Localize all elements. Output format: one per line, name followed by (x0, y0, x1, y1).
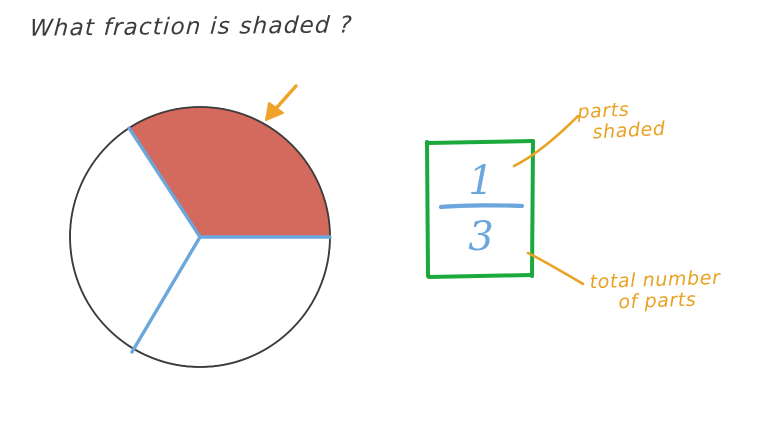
annotation-parts-shaded: parts shaded (577, 98, 666, 145)
annotation-total-parts: total number of parts (589, 268, 721, 315)
figure-svg (0, 0, 760, 427)
annotation-total-parts-line2: of parts (590, 289, 722, 315)
fraction-denominator: 3 (451, 214, 511, 260)
connector-denominator (528, 253, 583, 284)
pointer-arrow-icon (266, 86, 296, 120)
fraction-numerator: 1 (451, 158, 511, 204)
annotation-parts-shaded-line2: shaded (578, 119, 666, 145)
fraction-bar (441, 205, 522, 207)
worksheet-canvas: What fraction is shaded ? 1 (0, 0, 760, 427)
